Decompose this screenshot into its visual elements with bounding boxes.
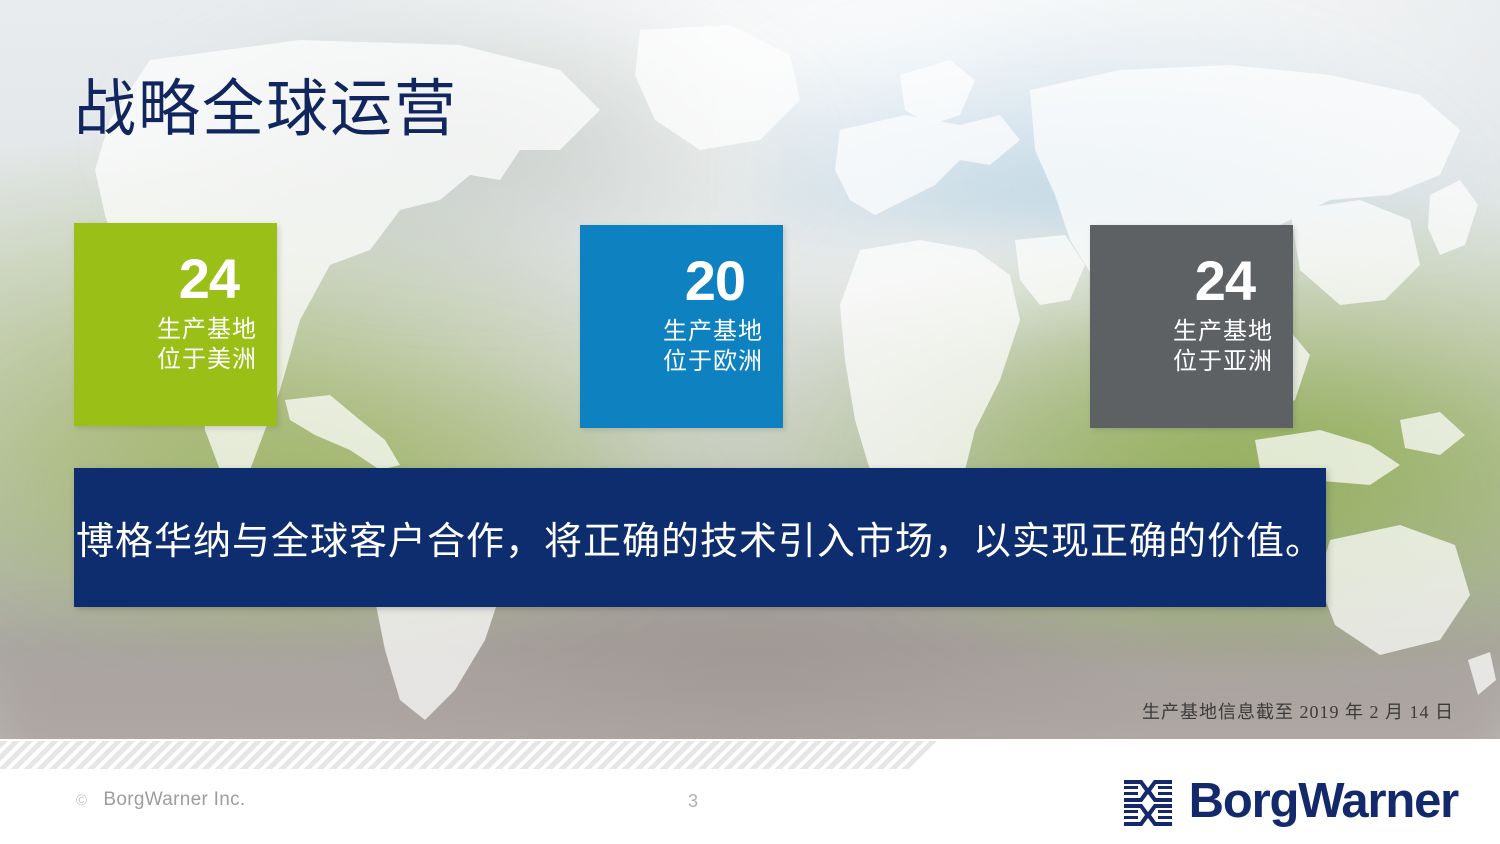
hatched-divider-band — [0, 741, 1500, 769]
copyright-text: BorgWarner Inc. — [103, 789, 245, 810]
stat-number-americas: 24 — [74, 249, 263, 309]
borgwarner-wordmark: BorgWarner — [1189, 773, 1458, 829]
message-banner-text: 博格华纳与全球客户合作，将正确的技术引入市场，以实现正确的价值。 — [76, 510, 1324, 565]
stat-box-americas: 24 生产基地 位于美洲 — [74, 223, 277, 426]
stat-caption-americas-line2: 位于美洲 — [74, 345, 263, 375]
stat-number-asia: 24 — [1090, 251, 1279, 311]
stat-caption-europe-line2: 位于欧洲 — [580, 347, 769, 377]
page-number: 3 — [688, 791, 698, 812]
stat-box-europe: 20 生产基地 位于欧洲 — [580, 225, 783, 428]
footnote-text: 生产基地信息截至 2019 年 2 月 14 日 — [1142, 698, 1454, 724]
copyright-notice: ©BorgWarner Inc. — [76, 789, 245, 811]
borgwarner-bowtie-icon — [1122, 776, 1174, 826]
stat-caption-asia-line2: 位于亚洲 — [1090, 347, 1279, 377]
page-title: 战略全球运营 — [74, 58, 458, 148]
stat-box-asia: 24 生产基地 位于亚洲 — [1090, 225, 1293, 428]
hatch-pattern — [0, 741, 940, 769]
slide-canvas: 战略全球运营 24 生产基地 位于美洲 20 生产基地 位于欧洲 24 生产基地… — [0, 0, 1500, 844]
stat-caption-asia-line1: 生产基地 — [1090, 317, 1279, 347]
stat-caption-europe-line1: 生产基地 — [580, 317, 769, 347]
copyright-icon: © — [76, 792, 87, 809]
slide-footer: ©BorgWarner Inc. 3 BorgWarner — [0, 769, 1500, 844]
borgwarner-logo: BorgWarner — [1122, 773, 1458, 829]
stat-number-europe: 20 — [580, 251, 769, 311]
stat-caption-americas-line1: 生产基地 — [74, 315, 263, 345]
message-banner: 博格华纳与全球客户合作，将正确的技术引入市场，以实现正确的价值。 — [74, 468, 1326, 607]
